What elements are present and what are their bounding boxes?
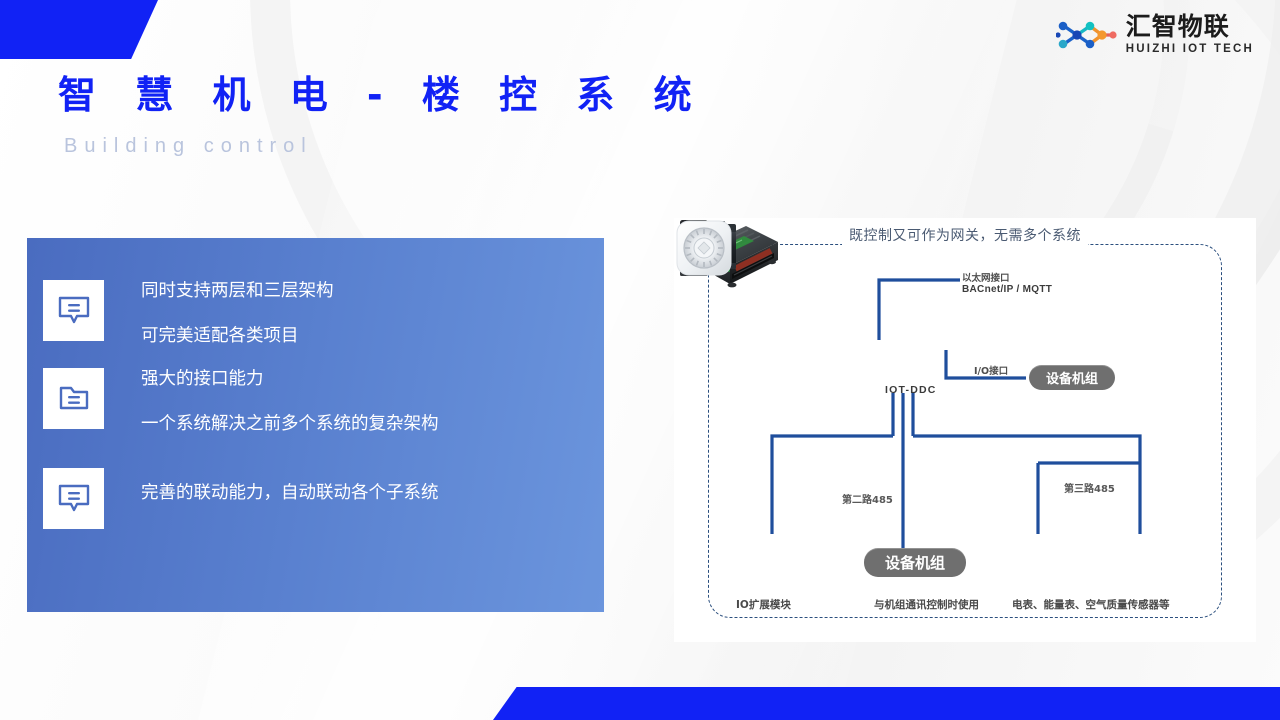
architecture-diagram-card: 既控制又可作为网关，无需多个系统 [674,218,1256,642]
label-ethernet-port: 以太网接口 [962,270,1010,284]
brand-logo: 汇智物联 HUIZHI IOT TECH [1056,14,1254,56]
logo-text-en: HUIZHI IOT TECH [1126,44,1254,56]
feature-row: 完善的联动能力，自动联动各个子系统 [27,468,604,529]
feature-text: 同时支持两层和三层架构 可完美适配各类项目 [141,280,334,347]
molecule-network-icon [1056,15,1118,55]
feature-line: 完善的联动能力，自动联动各个子系统 [141,484,439,503]
label-bus-2: 第二路485 [842,491,893,506]
label-meters-sensors: 电表、能量表、空气质量传感器等 [1012,597,1170,612]
label-io-port: I/O接口 [974,363,1008,377]
folder-lines-icon [43,368,104,429]
label-protocols: BACnet/IP / MQTT [962,284,1052,295]
diagram-canvas: 设备机组 设备机组 以太网接口 BACnet/IP / MQTT I/O接口 I… [674,218,1256,642]
feature-text: 完善的联动能力，自动联动各个子系统 [141,468,439,503]
corner-accent-top-left [0,0,158,59]
label-iot-ddc: IOT-DDC [885,384,937,396]
corner-accent-bottom-right [493,687,1280,720]
feature-row: 强大的接口能力 一个系统解决之前多个系统的复杂架构 [27,368,604,435]
label-bus-3: 第三路485 [1064,480,1115,495]
air-quality-sensor [674,218,734,278]
speech-bubble-lines-icon [43,280,104,341]
feature-line: 一个系统解决之前多个系统的复杂架构 [141,415,439,434]
logo-text-cn: 汇智物联 [1126,14,1254,39]
feature-line: 同时支持两层和三层架构 [141,282,334,301]
feature-text: 强大的接口能力 一个系统解决之前多个系统的复杂架构 [141,368,439,435]
status-pill-equipment-unit: 设备机组 [864,548,966,577]
feature-row: 同时支持两层和三层架构 可完美适配各类项目 [27,280,604,347]
feature-line: 强大的接口能力 [141,370,439,389]
label-io-module: IO扩展模块 [736,597,791,612]
slide-root: 汇智物联 HUIZHI IOT TECH 智 慧 机 电 - 楼 控 系 统 B… [0,0,1280,720]
feature-line: 可完美适配各类项目 [141,327,334,346]
page-title: 智 慧 机 电 - 楼 控 系 统 [58,64,705,119]
page-title-block: 智 慧 机 电 - 楼 控 系 统 Building control [58,64,705,158]
feature-panel: 同时支持两层和三层架构 可完美适配各类项目 强大的接口能力 一个系统解决之前多个… [27,238,604,612]
page-subtitle: Building control [64,135,705,158]
label-unit-comm-usage: 与机组通讯控制时使用 [874,597,979,612]
speech-bubble-lines-icon [43,468,104,529]
status-pill-equipment-unit: 设备机组 [1029,365,1115,390]
